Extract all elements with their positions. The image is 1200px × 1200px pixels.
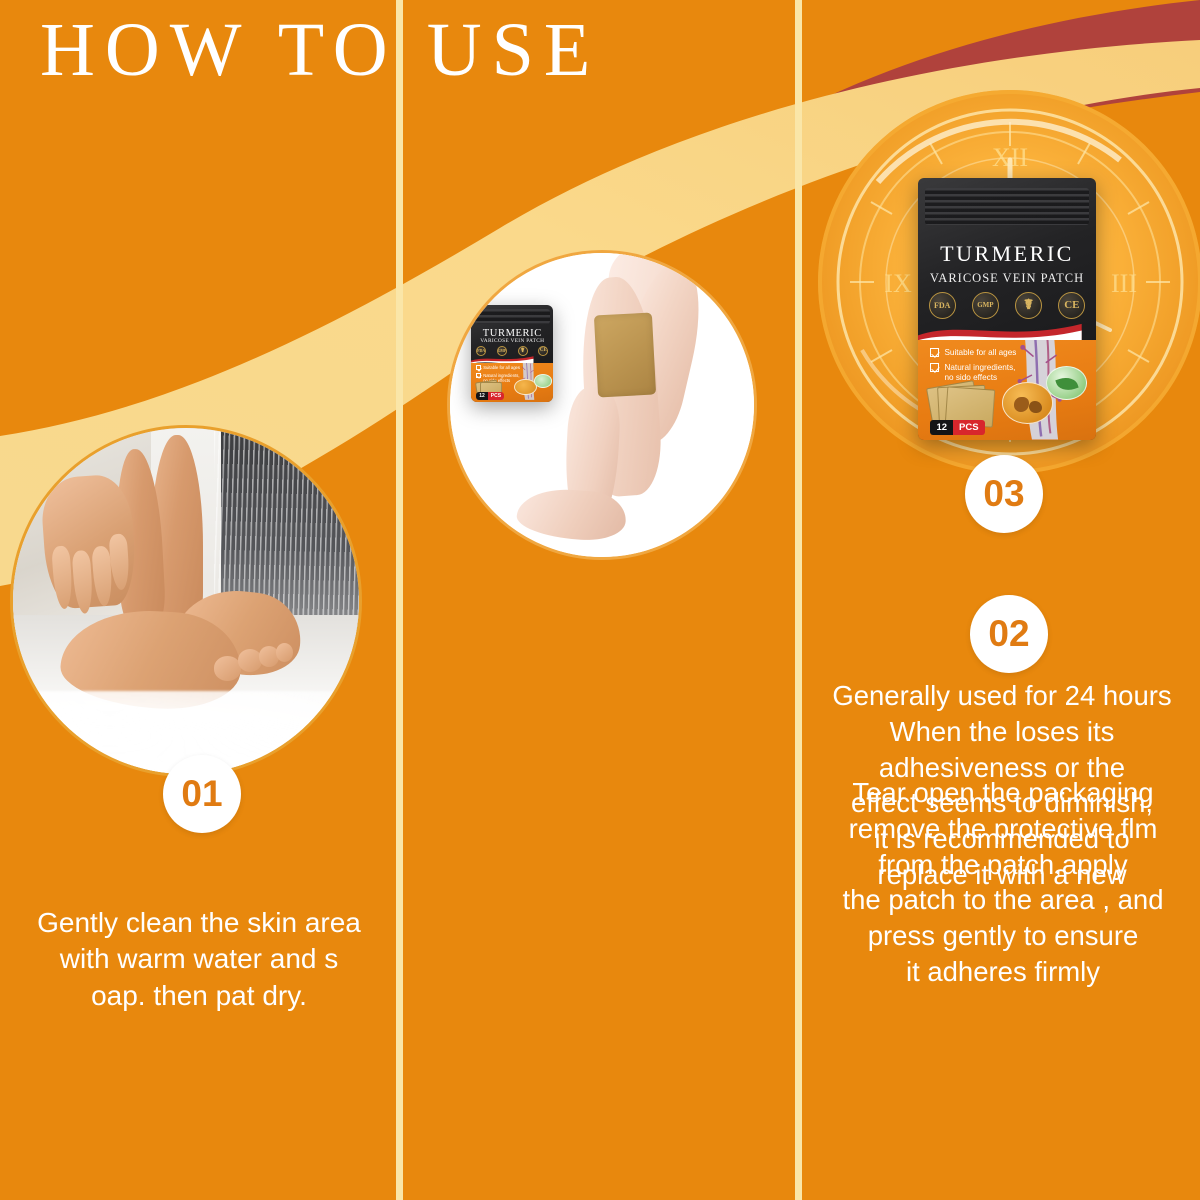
applied-patch [594, 312, 656, 397]
step-caption-1: Gently clean the skin area with warm wat… [8, 905, 390, 1014]
cert-badge-fda: FDA [929, 292, 956, 319]
patch-applied-to-calf-photo: TURMERIC VARICOSE VEIN PATCH FDA GMP ☤ C… [447, 250, 757, 560]
step-column-1: 01 Gently clean the skin area with warm … [0, 0, 396, 1200]
cert-badge-gmp: GMP [972, 292, 999, 319]
checkbox-icon [930, 363, 939, 372]
product-package-small: TURMERIC VARICOSE VEIN PATCH FDA GMP ☤ C… [471, 305, 553, 402]
column-divider-2 [795, 0, 802, 1200]
step-number-badge-3: 03 [965, 455, 1043, 533]
package-count-badge: 12 PCS [930, 420, 984, 435]
package-subtitle: VARICOSE VEIN PATCH [918, 271, 1096, 286]
turmeric-root-icon [1002, 382, 1054, 424]
count-number-small: 12 [476, 392, 488, 400]
cert-badge-fda-small: FDA [476, 346, 486, 356]
step-column-2: TURMERIC VARICOSE VEIN PATCH FDA GMP ☤ C… [403, 0, 795, 1200]
package-count-badge-small: 12 PCS [476, 392, 504, 400]
count-unit: PCS [953, 420, 985, 435]
cert-badge-ce-small: CE [538, 346, 548, 356]
page-title: HOW TO USE [40, 12, 600, 88]
green-leaf-icon [534, 374, 552, 388]
checkbox-icon [930, 348, 939, 357]
cert-badge-ce: CE [1058, 292, 1085, 319]
cert-badge-caduceus-small: ☤ [518, 346, 528, 356]
checkbox-icon [476, 373, 481, 378]
cert-badge-gmp-small: GMP [497, 346, 507, 356]
step-caption-3: Generally used for 24 hours When the los… [806, 678, 1198, 893]
feet-in-shower-photo [10, 425, 362, 777]
step-column-3: TURMERIC VARICOSE VEIN PATCH FDA GMP ☤ C… [802, 0, 1200, 1200]
step-number-badge-1: 01 [163, 755, 241, 833]
package-subtitle-small: VARICOSE VEIN PATCH [471, 338, 553, 344]
checkbox-icon [476, 365, 481, 370]
product-package-large: TURMERIC VARICOSE VEIN PATCH FDA GMP ☤ C… [918, 178, 1096, 440]
infographic-page: XII III VI IX HOW TO USE [0, 0, 1200, 1200]
count-unit-small: PCS [488, 392, 504, 400]
column-divider-1 [396, 0, 403, 1200]
count-number: 12 [930, 420, 953, 435]
package-brand: TURMERIC [918, 241, 1096, 267]
cert-badge-caduceus: ☤ [1015, 292, 1042, 319]
